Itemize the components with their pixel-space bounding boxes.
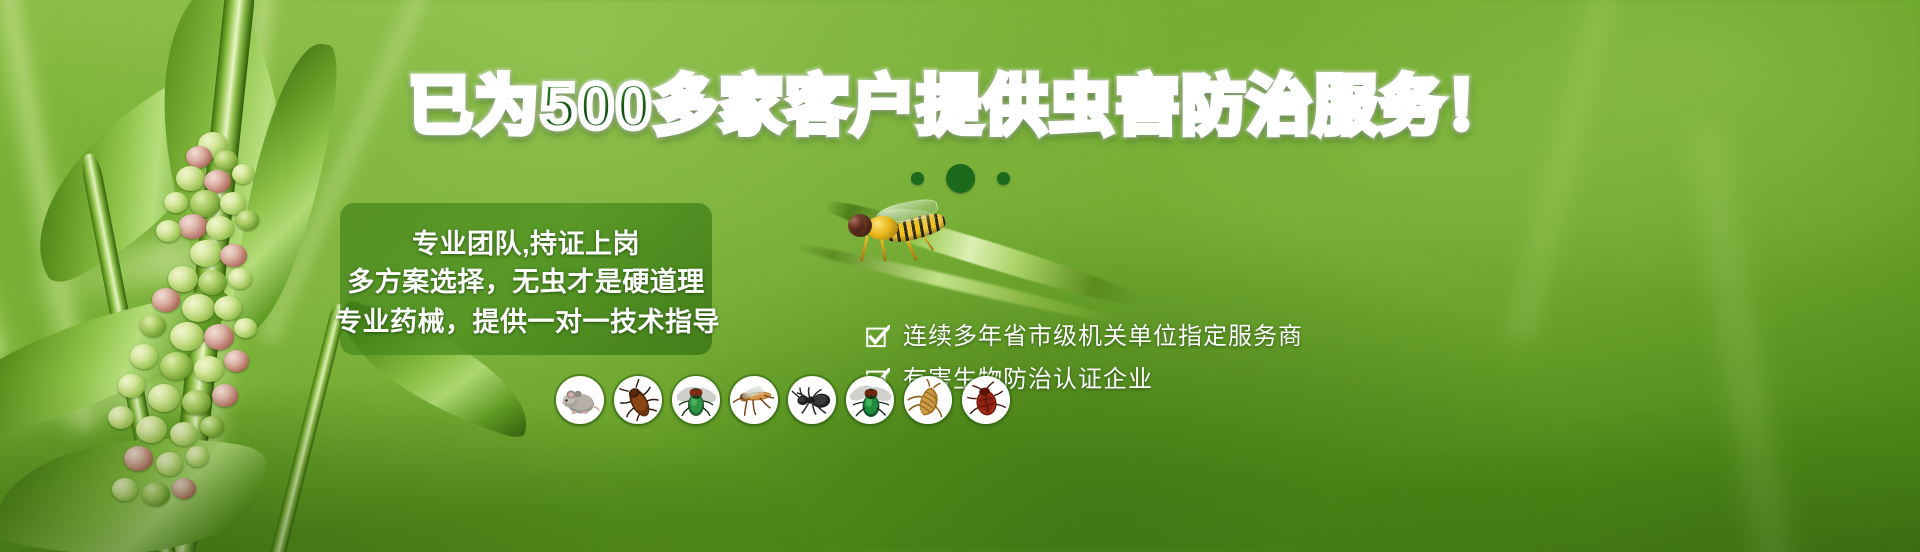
pest-type-icons — [556, 376, 1010, 424]
fly-icon[interactable] — [672, 376, 720, 424]
greenbottle-fly-icon[interactable] — [846, 376, 894, 424]
hoverfly-eye — [849, 215, 864, 233]
feature-line-1: 专业团队,持证上岗 — [335, 223, 717, 269]
feature-line-2: 多方案选择，无虫才是硬道理 — [335, 269, 717, 309]
bedbug-icon[interactable] — [962, 376, 1010, 424]
mosquito-icon[interactable] — [730, 376, 778, 424]
promo-banner: 已为500多家客户提供虫害防治服务！ 已为500多家客户提供虫害防治服务！ 专业… — [0, 0, 1920, 552]
headline-group: 已为500多家客户提供虫害防治服务！ 已为500多家客户提供虫害防治服务！ — [0, 0, 1920, 130]
features-panel-text: 专业团队,持证上岗 多方案选择，无虫才是硬道理 专业药械，提供一对一技术指导 — [335, 206, 717, 356]
ant-icon[interactable] — [788, 376, 836, 424]
decor-dot-large — [946, 164, 975, 193]
page-title: 已为500多家客户提供虫害防治服务！ — [0, 74, 1920, 138]
mouse-icon[interactable] — [556, 376, 604, 424]
feature-line-3: 专业药械，提供一对一技术指导 — [335, 309, 717, 340]
decor-dot-small-right — [997, 172, 1010, 185]
hoverfly-photo — [846, 200, 956, 262]
credential-label: 连续多年省市级机关单位指定服务商 — [903, 325, 1303, 349]
flea-icon[interactable] — [904, 376, 952, 424]
hoverfly-leg-2 — [880, 238, 886, 262]
decor-dot-small-left — [911, 172, 924, 185]
list-item: 连续多年省市级机关单位指定服务商 — [866, 325, 1426, 349]
decorative-dots — [0, 164, 1920, 193]
checkbox-checked-icon — [866, 325, 890, 349]
cockroach-icon[interactable] — [614, 376, 662, 424]
hoverfly-leg-1 — [860, 236, 869, 262]
